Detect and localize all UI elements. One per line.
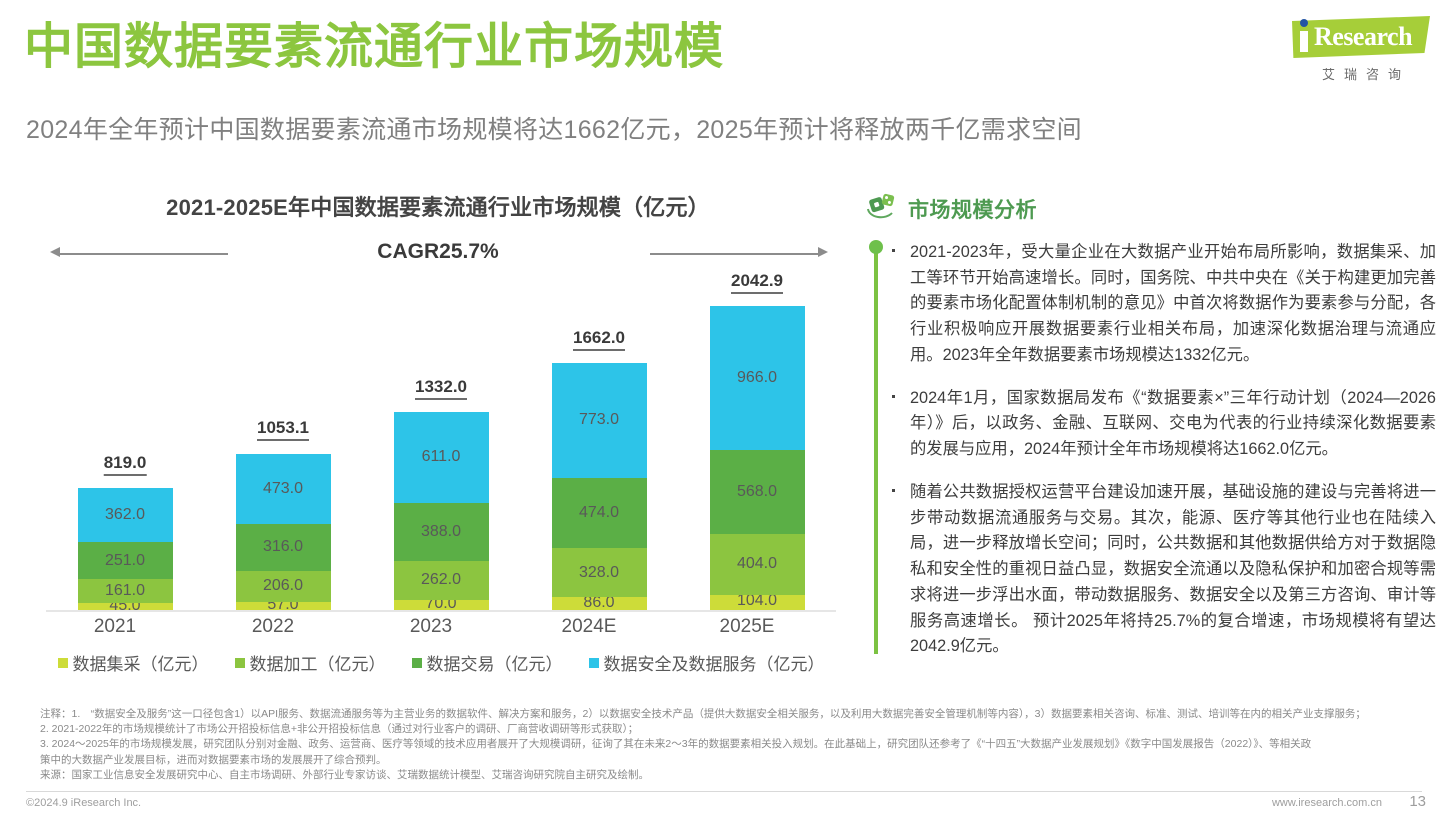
bar-segment-value-label: 161.0 bbox=[105, 582, 145, 600]
bar-segment-value-label: 473.0 bbox=[263, 480, 303, 498]
footer-page-number: 13 bbox=[1409, 793, 1426, 810]
legend-item[interactable]: 数据集采（亿元） bbox=[58, 650, 209, 675]
chart-panel: 2021-2025E年中国数据要素流通行业市场规模（亿元） CAGR25.7% … bbox=[18, 190, 858, 690]
legend-item[interactable]: 数据安全及数据服务（亿元） bbox=[589, 650, 825, 675]
analysis-bullet-list: 2021-2023年，受大量企业在大数据产业开始布局所影响，数据集采、加工等环节… bbox=[888, 240, 1436, 660]
footer-url: www.iresearch.com.cn bbox=[1272, 797, 1382, 809]
bar-segment[interactable]: 86.0 bbox=[552, 597, 647, 610]
legend-label: 数据交易（亿元） bbox=[427, 650, 563, 675]
bar-column[interactable]: 86.0328.0474.0773.01662.0 bbox=[552, 363, 647, 610]
bar-group: 45.0161.0251.0362.0819.057.0206.0316.047… bbox=[46, 282, 836, 610]
bar-segment[interactable]: 568.0 bbox=[710, 450, 805, 535]
bar-segment-value-label: 206.0 bbox=[263, 577, 303, 595]
legend-swatch-icon bbox=[412, 658, 422, 668]
logo-wordmark: Research bbox=[1314, 22, 1412, 52]
analysis-header: 市场规模分析 bbox=[866, 192, 1436, 226]
logo-mark: Research bbox=[1280, 14, 1430, 60]
logo-chinese-name: 艾瑞咨询 bbox=[1302, 64, 1430, 83]
page-title: 中国数据要素流通行业市场规模 bbox=[24, 22, 724, 73]
legend-item[interactable]: 数据加工（亿元） bbox=[235, 650, 386, 675]
legend-label: 数据集采（亿元） bbox=[73, 650, 209, 675]
logo-i-stem-icon bbox=[1300, 31, 1308, 52]
cagr-arrow-right-head-icon bbox=[818, 247, 828, 257]
bar-segment[interactable]: 251.0 bbox=[78, 542, 173, 579]
chart-legend: 数据集采（亿元）数据加工（亿元）数据交易（亿元）数据安全及数据服务（亿元） bbox=[24, 650, 858, 675]
bar-segment-value-label: 611.0 bbox=[422, 448, 461, 466]
bar-segment[interactable]: 404.0 bbox=[710, 534, 805, 594]
bar-column[interactable]: 70.0262.0388.0611.01332.0 bbox=[394, 412, 489, 610]
bar-segment[interactable]: 104.0 bbox=[710, 595, 805, 610]
page-subtitle: 2024年全年预计中国数据要素流通市场规模将达1662亿元，2025年预计将释放… bbox=[26, 110, 1082, 146]
analysis-bullet-text: 随着公共数据授权运营平台建设加速开展，基础设施的建设与完善将进一步带动数据流通服… bbox=[910, 480, 1436, 660]
x-axis-tick: 2022 bbox=[226, 616, 321, 642]
bar-segment[interactable]: 316.0 bbox=[236, 524, 331, 571]
bar-total-label: 819.0 bbox=[104, 453, 147, 476]
cagr-label: CAGR25.7% bbox=[377, 240, 498, 264]
bullet-dot-icon bbox=[892, 395, 895, 398]
footer-divider bbox=[26, 791, 1422, 792]
legend-item[interactable]: 数据交易（亿元） bbox=[412, 650, 563, 675]
footnote-line: 策中的大数据产业发展目标，进而对数据要素市场的发展展开了综合预判。 bbox=[40, 753, 1415, 768]
bar-segment-value-label: 966.0 bbox=[737, 369, 777, 387]
analysis-bullet: 2021-2023年，受大量企业在大数据产业开始布局所影响，数据集采、加工等环节… bbox=[888, 240, 1436, 369]
analysis-bullet-text: 2021-2023年，受大量企业在大数据产业开始布局所影响，数据集采、加工等环节… bbox=[910, 240, 1436, 369]
cagr-arrow-right-line bbox=[650, 253, 820, 255]
bar-segment-value-label: 568.0 bbox=[737, 483, 777, 501]
bar-segment[interactable]: 161.0 bbox=[78, 579, 173, 603]
bar-total-label: 2042.9 bbox=[731, 271, 783, 294]
chart-title: 2021-2025E年中国数据要素流通行业市场规模（亿元） bbox=[18, 190, 858, 222]
bar-segment-value-label: 262.0 bbox=[421, 571, 461, 589]
analysis-bullet: 2024年1月，国家数据局发布《“数据要素×”三年行动计划（2024—2026年… bbox=[888, 386, 1436, 463]
cagr-arrow-left-head-icon bbox=[50, 247, 60, 257]
x-axis-tick-labels: 2021202220232024E2025E bbox=[36, 616, 826, 642]
legend-label: 数据加工（亿元） bbox=[250, 650, 386, 675]
bar-segment[interactable]: 328.0 bbox=[552, 548, 647, 597]
analysis-body: 2021-2023年，受大量企业在大数据产业开始布局所影响，数据集采、加工等环节… bbox=[866, 240, 1436, 660]
bar-segment[interactable]: 611.0 bbox=[394, 412, 489, 503]
cagr-arrow-left-line bbox=[58, 253, 228, 255]
bar-segment[interactable]: 70.0 bbox=[394, 600, 489, 610]
timeline-dot-icon bbox=[869, 240, 883, 254]
footnote-line: 3. 2024～2025年的市场规模发展，研究团队分别对金融、政务、运营商、医疗… bbox=[40, 737, 1415, 752]
bar-total-label: 1332.0 bbox=[415, 377, 467, 400]
bar-segment-value-label: 362.0 bbox=[105, 506, 145, 524]
bar-column[interactable]: 45.0161.0251.0362.0819.0 bbox=[78, 488, 173, 610]
bar-segment-value-label: 328.0 bbox=[579, 564, 619, 582]
bar-segment[interactable]: 773.0 bbox=[552, 363, 647, 478]
footnote-line: 来源：国家工业信息安全发展研究中心、自主市场调研、外部行业专家访谈、艾瑞数据统计… bbox=[40, 768, 1415, 783]
analysis-panel: 市场规模分析 2021-2023年，受大量企业在大数据产业开始布局所影响，数据集… bbox=[866, 192, 1436, 660]
bar-segment-value-label: 251.0 bbox=[105, 552, 145, 570]
bar-total-label: 1662.0 bbox=[573, 328, 625, 351]
cagr-annotation-row: CAGR25.7% bbox=[38, 238, 838, 270]
bar-segment[interactable]: 966.0 bbox=[710, 306, 805, 450]
timeline-bar bbox=[874, 246, 878, 654]
bar-segment-value-label: 316.0 bbox=[263, 538, 303, 556]
bar-segment[interactable]: 362.0 bbox=[78, 488, 173, 542]
bar-segment[interactable]: 473.0 bbox=[236, 454, 331, 524]
legend-swatch-icon bbox=[58, 658, 68, 668]
footnote-line: 2. 2021-2022年的市场规模统计了市场公开招投标信息+非公开招投标信息（… bbox=[40, 722, 1415, 737]
bar-segment[interactable]: 57.0 bbox=[236, 602, 331, 610]
footnote-line: 注释：1. “数据安全及服务”这一口径包含1）以API服务、数据流通服务等为主营… bbox=[40, 707, 1415, 722]
footer-copyright: ©2024.9 iResearch Inc. bbox=[26, 797, 141, 809]
analysis-bullet: 随着公共数据授权运营平台建设加速开展，基础设施的建设与完善将进一步带动数据流通服… bbox=[888, 480, 1436, 660]
x-axis-tick: 2023 bbox=[384, 616, 479, 642]
analysis-bullet-text: 2024年1月，国家数据局发布《“数据要素×”三年行动计划（2024—2026年… bbox=[910, 386, 1436, 463]
bar-segment[interactable]: 45.0 bbox=[78, 603, 173, 610]
x-axis-tick: 2024E bbox=[542, 616, 637, 642]
legend-swatch-icon bbox=[589, 658, 599, 668]
bar-segment[interactable]: 474.0 bbox=[552, 478, 647, 549]
x-axis-tick: 2025E bbox=[700, 616, 795, 642]
legend-label: 数据安全及数据服务（亿元） bbox=[604, 650, 825, 675]
bar-total-label: 1053.1 bbox=[257, 418, 309, 441]
logo-i-dot-icon bbox=[1300, 19, 1308, 27]
bar-segment-value-label: 388.0 bbox=[421, 523, 461, 541]
x-axis-tick: 2021 bbox=[68, 616, 163, 642]
bar-segment[interactable]: 206.0 bbox=[236, 571, 331, 602]
dice-chart-icon bbox=[866, 193, 896, 226]
bar-column[interactable]: 104.0404.0568.0966.02042.9 bbox=[710, 306, 805, 610]
footnotes: 注释：1. “数据安全及服务”这一口径包含1）以API服务、数据流通服务等为主营… bbox=[40, 707, 1415, 783]
bar-segment[interactable]: 388.0 bbox=[394, 503, 489, 561]
iresearch-logo: Research 艾瑞咨询 bbox=[1280, 14, 1430, 86]
legend-swatch-icon bbox=[235, 658, 245, 668]
bullet-dot-icon bbox=[892, 489, 895, 492]
bar-segment[interactable]: 262.0 bbox=[394, 561, 489, 600]
bar-segment-value-label: 773.0 bbox=[579, 411, 619, 429]
bar-segment-value-label: 474.0 bbox=[579, 504, 619, 522]
analysis-title: 市场规模分析 bbox=[908, 194, 1037, 224]
slide-root: 中国数据要素流通行业市场规模 2024年全年预计中国数据要素流通市场规模将达16… bbox=[0, 0, 1448, 818]
bar-segment-value-label: 404.0 bbox=[737, 555, 777, 573]
bar-segment-value-label: 104.0 bbox=[737, 592, 777, 610]
plot-area: 45.0161.0251.0362.0819.057.0206.0316.047… bbox=[28, 282, 848, 612]
bar-column[interactable]: 57.0206.0316.0473.01053.1 bbox=[236, 454, 331, 611]
bullet-dot-icon bbox=[892, 249, 895, 252]
